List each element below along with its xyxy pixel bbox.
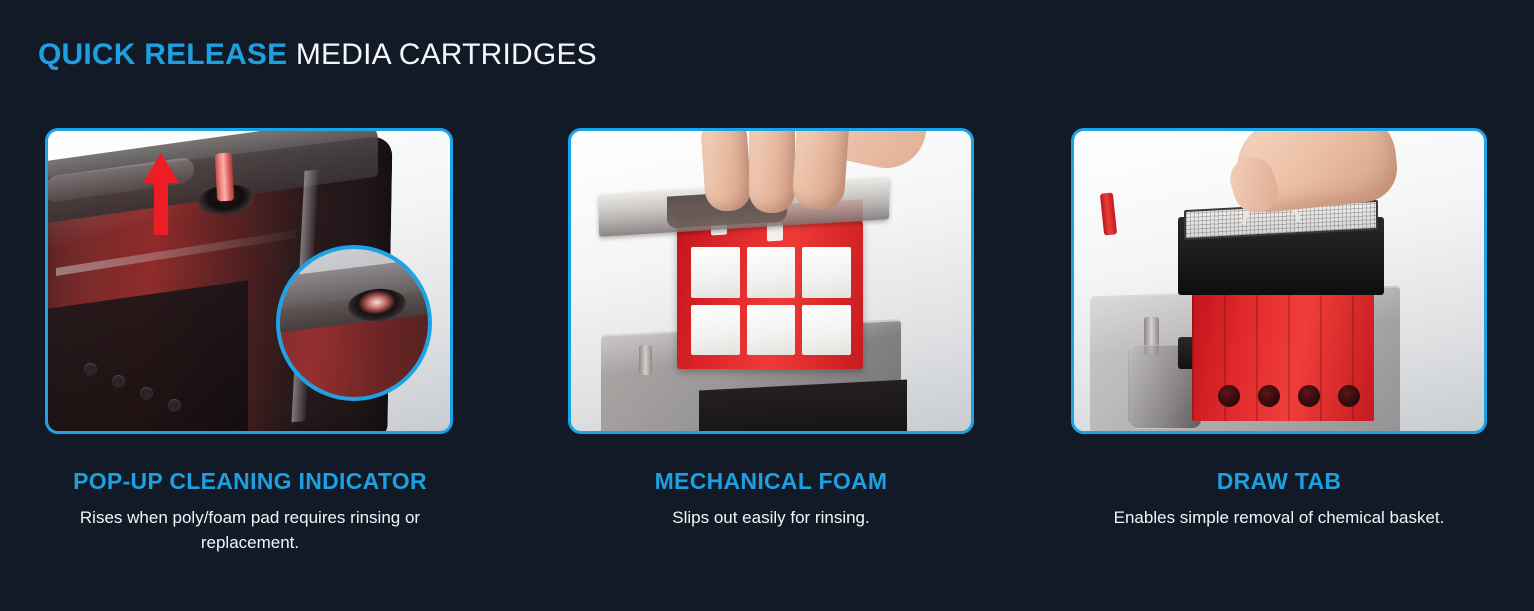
magnified-detail-inset	[276, 245, 432, 401]
housing-post	[639, 345, 652, 375]
foam-panel	[691, 305, 740, 356]
product-photo-pop-up-cleaning-indicator	[48, 131, 450, 431]
page-title-plain: MEDIA CARTRIDGES	[287, 38, 597, 71]
caption-text: Rises when poly/foam pad requires rinsin…	[35, 506, 465, 554]
caption-pop-up-cleaning-indicator: POP-UP CLEANING INDICATOR Rises when pol…	[35, 468, 465, 555]
photo-frame-pop-up-cleaning-indicator	[45, 128, 453, 434]
caption-title: MECHANICAL FOAM	[561, 468, 981, 494]
caption-title: DRAW TAB	[1064, 468, 1494, 494]
caption-draw-tab: DRAW TAB Enables simple removal of chemi…	[1064, 468, 1494, 531]
housing-knob	[140, 387, 153, 400]
housing-knob	[112, 375, 125, 388]
caption-mechanical-foam: MECHANICAL FOAM Slips out easily for rin…	[561, 468, 981, 531]
foam-panel	[802, 305, 851, 356]
product-photo-mechanical-foam	[571, 131, 971, 431]
foam-panel	[747, 305, 796, 356]
caption-title: POP-UP CLEANING INDICATOR	[35, 468, 465, 494]
finger	[700, 131, 753, 212]
marketing-feature-panel: QUICK RELEASE MEDIA CARTRIDGES	[0, 0, 1534, 611]
foam-panel	[747, 247, 796, 298]
basket-port	[1258, 385, 1280, 407]
page-title-accent: QUICK RELEASE	[38, 38, 287, 71]
basket-port	[1338, 385, 1360, 407]
caption-text: Enables simple removal of chemical baske…	[1064, 506, 1494, 530]
pop-up-indicator-pin	[215, 153, 234, 202]
draw-tab	[1100, 192, 1117, 235]
product-photo-draw-tab	[1074, 131, 1484, 431]
photo-frame-mechanical-foam	[568, 128, 974, 434]
feature-card-row: POP-UP CLEANING INDICATOR Rises when pol…	[0, 128, 1534, 588]
feature-card-pop-up-cleaning-indicator: POP-UP CLEANING INDICATOR Rises when pol…	[45, 128, 453, 555]
chemical-basket	[1192, 289, 1374, 421]
housing-knob	[168, 399, 181, 412]
basket-port	[1218, 385, 1240, 407]
feature-card-mechanical-foam: MECHANICAL FOAM Slips out easily for rin…	[568, 128, 974, 531]
caption-text: Slips out easily for rinsing.	[561, 506, 981, 530]
finger	[749, 131, 795, 213]
photo-frame-draw-tab	[1071, 128, 1487, 434]
hand	[699, 131, 899, 219]
finger	[791, 131, 850, 211]
page-title: QUICK RELEASE MEDIA CARTRIDGES	[38, 38, 597, 71]
hand	[1226, 131, 1416, 225]
feature-card-draw-tab: DRAW TAB Enables simple removal of chemi…	[1071, 128, 1487, 531]
foam-panel-grid	[691, 247, 851, 355]
foam-panel	[802, 247, 851, 298]
up-arrow-icon	[143, 153, 179, 235]
foam-panel	[691, 247, 740, 298]
housing-knob	[84, 363, 97, 376]
basket-port	[1298, 385, 1320, 407]
mechanical-foam-cartridge	[677, 221, 863, 369]
